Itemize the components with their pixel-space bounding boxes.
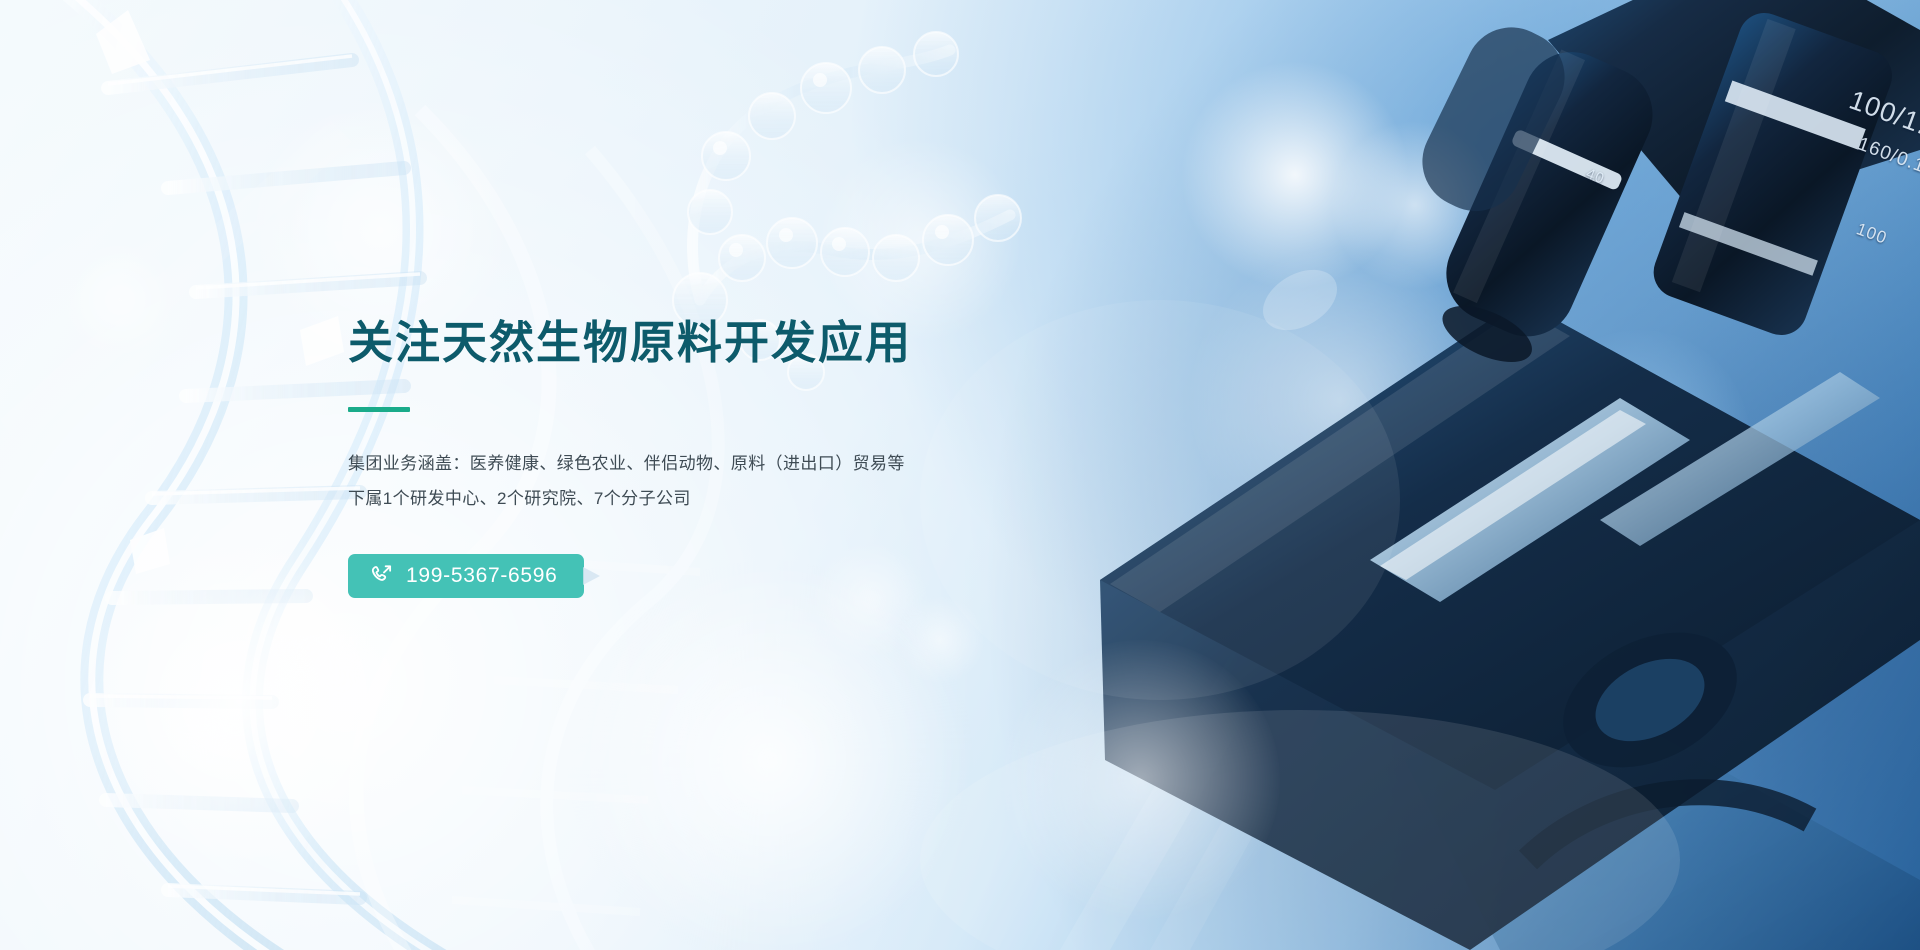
glow-blob	[820, 140, 1020, 340]
description-line-2: 下属1个研发中心、2个研究院、7个分子公司	[348, 481, 1168, 516]
microscope-graphic	[1100, 0, 1920, 950]
hero-banner: 100/1.25 160/0.17 100 40 关注天然生物原料开发应用 集团…	[0, 0, 1920, 950]
phone-outgoing-icon	[370, 564, 393, 587]
phone-number-label: 199-5367-6596	[406, 565, 558, 586]
lens-label-magnification-40: 40	[1583, 165, 1607, 188]
cta-container: 199-5367-6596	[348, 554, 584, 598]
call-phone-button[interactable]: 199-5367-6596	[348, 554, 584, 598]
hero-description: 集团业务涵盖：医养健康、绿色农业、伴侣动物、原料（进出口）贸易等 下属1个研发中…	[348, 446, 1168, 516]
glow-blob	[1190, 250, 1490, 550]
lens-label-magnification-100: 100	[1854, 219, 1890, 249]
glow-blob	[1000, 640, 1280, 920]
lens-label-tube-length: 160/0.17	[1855, 134, 1920, 183]
glow-blob	[1180, 60, 1410, 290]
cta-pointer-tail	[583, 567, 600, 585]
glow-blob	[1330, 120, 1500, 290]
hero-content: 关注天然生物原料开发应用 集团业务涵盖：医养健康、绿色农业、伴侣动物、原料（进出…	[348, 318, 1168, 598]
page-title: 关注天然生物原料开发应用	[348, 318, 1168, 368]
glow-blob	[560, 560, 980, 950]
lens-label-aperture: 100/1.25	[1845, 85, 1920, 153]
glow-blob	[1530, 330, 1750, 550]
description-line-1: 集团业务涵盖：医养健康、绿色农业、伴侣动物、原料（进出口）贸易等	[348, 446, 1168, 481]
title-accent-rule	[348, 407, 410, 412]
